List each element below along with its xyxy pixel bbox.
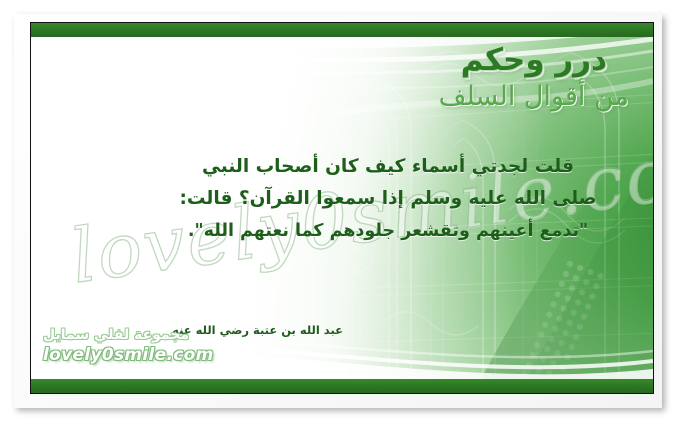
green-bar-top xyxy=(31,23,653,37)
quote-line: صلى الله عليه وسلم إذا سمعوا القرآن؟ قال… xyxy=(153,183,623,215)
quote-block: قلت لجدتي أسماء كيف كان أصحاب النبي صلى … xyxy=(153,151,623,247)
brand-logo: مجموعة لفلي سمايل lovely0smile.com xyxy=(43,326,214,365)
brand-name-arabic: مجموعة لفلي سمايل xyxy=(43,326,214,344)
green-bar-bottom xyxy=(31,379,653,393)
title-block: درر وحكم من أقوال السلف xyxy=(439,43,629,112)
quote-line: "تدمع أعينهم وتقشعر جلودهم كما نعتهم الل… xyxy=(153,215,623,247)
card-inner-frame: lovely0smile.com درر وحكم من أقوال السلف… xyxy=(30,22,654,394)
quote-line: قلت لجدتي أسماء كيف كان أصحاب النبي xyxy=(153,151,623,183)
page-title: درر وحكم xyxy=(439,43,629,77)
page-subtitle: من أقوال السلف xyxy=(439,81,629,112)
brand-website-url: lovely0smile.com xyxy=(43,345,214,365)
quote-card: lovely0smile.com درر وحكم من أقوال السلف… xyxy=(0,0,692,432)
